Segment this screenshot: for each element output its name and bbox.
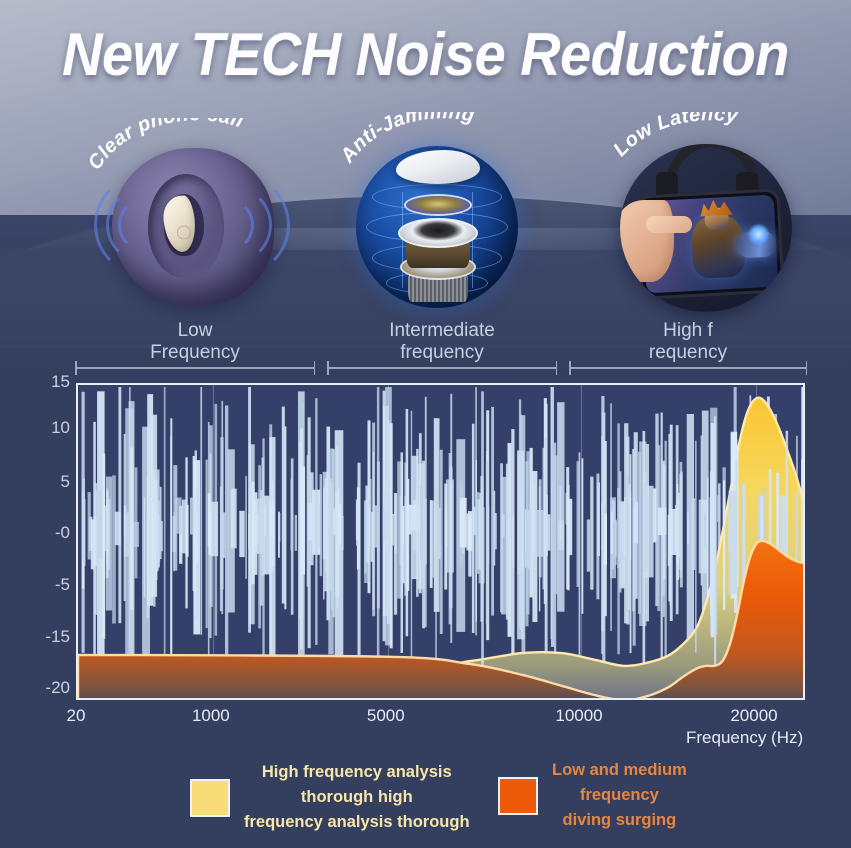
band-intermediate-frequency: Intermediate frequency xyxy=(322,322,562,384)
spectrum-bar xyxy=(269,437,275,662)
spectrum-bar xyxy=(711,423,715,637)
band-bracket-2 xyxy=(564,361,812,375)
spectrum-bar xyxy=(532,486,535,558)
spectrum-bar xyxy=(729,491,737,595)
band-label-2: High f requency xyxy=(564,320,812,364)
ear-with-earbud-icon xyxy=(88,136,303,311)
spectrum-bar xyxy=(548,514,551,550)
spectrum-bar xyxy=(182,500,186,554)
legend-item-high-frequency: High frequency analysis thorough high fr… xyxy=(190,760,470,835)
spectrum-bar xyxy=(88,492,91,559)
y-tick-label: 10 xyxy=(10,418,70,438)
spectrum-bar xyxy=(491,407,494,616)
y-tick-label: -5 xyxy=(10,575,70,595)
spectrum-bar xyxy=(264,496,270,575)
band-bracket-0 xyxy=(70,361,320,375)
spectrum-bar xyxy=(402,506,404,583)
spectrum-bar xyxy=(494,513,497,549)
spectrum-bar xyxy=(416,449,419,597)
spectrum-bar xyxy=(546,495,548,556)
spectrum-bar xyxy=(315,398,317,645)
spectrum-bar xyxy=(282,407,285,604)
spectrum-bar xyxy=(437,489,439,579)
spectrum-bar xyxy=(262,458,265,576)
spectrum-bar xyxy=(147,394,153,606)
spectrum-bar xyxy=(198,487,200,571)
x-tick-label: 1000 xyxy=(192,706,230,726)
spectrum-bar xyxy=(444,484,447,590)
spectrum-bar xyxy=(527,510,531,568)
spectrum-bar xyxy=(560,486,562,539)
spectrum-bar xyxy=(164,387,166,655)
band-low-frequency: Low Frequency xyxy=(70,322,320,384)
spectrum-bar xyxy=(601,396,604,631)
spectrum-bar xyxy=(669,509,677,555)
exploded-driver-sphere-icon xyxy=(330,130,545,305)
spectrum-bar xyxy=(328,449,333,655)
spectrum-bar xyxy=(364,502,367,574)
spectrum-bar xyxy=(221,401,223,614)
spectrum-bar xyxy=(118,387,121,623)
y-tick-label: -0 xyxy=(10,523,70,543)
spectrum-bar xyxy=(704,514,707,546)
spectrum-bar xyxy=(115,512,121,546)
spectrum-bar xyxy=(185,457,187,608)
spectrum-bar xyxy=(318,504,321,548)
x-tick-label: 20000 xyxy=(730,706,777,726)
spectrum-bar xyxy=(420,486,423,560)
spectrum-bar xyxy=(225,406,228,657)
spectrum-bar xyxy=(481,391,484,678)
spectrum-bar xyxy=(239,511,244,557)
spectrum-bar xyxy=(194,489,196,592)
spectrum-bar xyxy=(587,520,590,572)
legend-swatch-low-medium-frequency xyxy=(498,777,538,815)
spectrum-bar xyxy=(206,460,208,628)
spectrum-bar xyxy=(687,414,694,652)
legend-swatch-high-frequency xyxy=(190,779,230,817)
spectrum-bar xyxy=(468,515,471,576)
spectrum-bar xyxy=(270,508,274,535)
spectrum-bar xyxy=(102,454,105,639)
spectrum-bar xyxy=(430,500,433,588)
spectrum-bar xyxy=(160,521,162,551)
spectrum-bar xyxy=(284,426,286,609)
x-tick-label: 10000 xyxy=(555,706,602,726)
spectrum-bar xyxy=(82,479,85,563)
spectrum-bar xyxy=(407,479,410,591)
spectrum-bar xyxy=(678,493,680,558)
spectrum-bar xyxy=(663,465,666,580)
spectrum-bar xyxy=(635,502,638,544)
spectrum-bar xyxy=(803,501,805,583)
spectrum-bar xyxy=(308,417,311,648)
spectrum-bar xyxy=(208,511,211,555)
x-tick-label: 20 xyxy=(67,706,86,726)
spectrum-bar xyxy=(551,387,553,639)
spectrum-bar xyxy=(460,498,467,548)
spectrum-bar xyxy=(590,477,593,590)
phone-gaming-icon xyxy=(600,130,815,305)
spectrum-bar xyxy=(680,472,683,588)
page-title: New TECH Noise Reduction xyxy=(30,20,821,89)
spectrum-bar xyxy=(717,495,721,522)
spectrum-bar xyxy=(653,488,656,542)
spectrum-bar xyxy=(383,493,388,542)
spectrum-bar xyxy=(707,477,709,595)
spectrum-bar xyxy=(501,477,507,615)
spectrum-bar xyxy=(248,387,251,633)
spectrum-bar xyxy=(450,394,452,643)
spectrum-bar xyxy=(106,491,108,579)
y-tick-label: 5 xyxy=(10,472,70,492)
spectrum-bar xyxy=(569,499,573,555)
y-tick-label: -15 xyxy=(10,627,70,647)
spectrum-bar xyxy=(371,512,373,562)
legend-item-low-medium-frequency: Low and medium frequency diving surging xyxy=(498,758,687,833)
spectrum-bar xyxy=(804,514,805,542)
spectrum-bar xyxy=(157,470,160,568)
spectrum-bar xyxy=(579,452,581,655)
spectrum-bar xyxy=(369,505,371,550)
spectrum-bar xyxy=(633,449,636,646)
chart-legend: High frequency analysis thorough high fr… xyxy=(0,752,851,848)
spectrum-bar xyxy=(245,476,247,579)
spectrum-bar xyxy=(377,387,380,678)
spectrum-bar xyxy=(644,483,648,571)
spectrum-bar xyxy=(231,489,237,549)
frequency-response-chart: Low Frequency Intermediate frequency Hig… xyxy=(0,322,851,752)
y-tick-label: 15 xyxy=(10,372,70,392)
spectrum-bar xyxy=(604,513,607,564)
feature-card-low-latency: Low Latency xyxy=(600,112,815,312)
spectrum-bar xyxy=(473,507,476,536)
spectrum-bar xyxy=(621,506,624,547)
spectrum-bar xyxy=(435,441,437,677)
spectrum-bar xyxy=(394,493,397,615)
legend-label-low-medium-frequency: Low and medium frequency diving surging xyxy=(552,758,687,833)
spectrum-bar xyxy=(299,441,301,619)
spectrum-bar xyxy=(95,483,98,615)
spectrum-bar xyxy=(760,496,764,538)
spectrum-bar xyxy=(251,482,254,584)
spectrum-bar xyxy=(638,452,641,614)
feature-card-clear-phone-call: Clear phone call xyxy=(88,118,303,318)
spectrum-bar xyxy=(714,416,716,690)
spectrum-bar xyxy=(339,504,341,543)
poster-root: New TECH Noise Reduction Clear phone cal… xyxy=(0,0,851,848)
spectrum-bar xyxy=(486,461,489,624)
band-label-1: Intermediate frequency xyxy=(322,320,562,364)
feature-card-anti-jamming: Anti-Jamming xyxy=(330,112,545,312)
spectrum-bar xyxy=(323,488,324,600)
plot-area xyxy=(76,383,805,700)
spectrum-bar xyxy=(630,492,632,559)
spectrum-bar xyxy=(596,474,599,600)
x-axis-title: Frequency (Hz) xyxy=(686,728,803,748)
spectrum-bar xyxy=(626,474,629,613)
spectrum-bar xyxy=(475,492,479,574)
band-label-0: Low Frequency xyxy=(70,320,320,364)
spectrum-bar xyxy=(175,498,181,534)
band-high-frequency: High f requency xyxy=(564,322,812,384)
spectrum-bar xyxy=(695,441,697,653)
spectrum-bar xyxy=(566,493,568,525)
spectrum-bar xyxy=(390,423,393,648)
frequency-band-row: Low Frequency Intermediate frequency Hig… xyxy=(0,322,851,384)
spectrum-bar xyxy=(358,463,361,658)
spectrum-bar xyxy=(278,513,280,542)
spectrum-bar xyxy=(356,500,359,541)
spectrum-bar xyxy=(130,448,134,610)
spectrum-bar xyxy=(513,515,515,567)
spectrum-bar xyxy=(539,479,542,577)
spectrum-bar xyxy=(553,455,559,594)
spectrum-bar xyxy=(582,458,584,614)
plot-svg xyxy=(78,385,805,700)
spectrum-bar xyxy=(290,479,293,550)
spectrum-bar xyxy=(295,515,297,551)
x-tick-label: 5000 xyxy=(367,706,405,726)
spectrum-bar xyxy=(425,397,427,627)
spectrum-bar xyxy=(723,480,725,610)
y-tick-label: -20 xyxy=(10,678,70,698)
spectrum-bar xyxy=(440,450,443,634)
spectrum-bar xyxy=(112,475,116,623)
spectrum-bar xyxy=(144,497,146,598)
spectrum-bar xyxy=(200,387,202,635)
spectrum-bar xyxy=(387,436,389,597)
spectrum-bar xyxy=(519,399,521,626)
band-bracket-1 xyxy=(322,361,562,375)
legend-label-high-frequency: High frequency analysis thorough high fr… xyxy=(244,760,470,835)
spectrum-bar xyxy=(611,512,613,554)
